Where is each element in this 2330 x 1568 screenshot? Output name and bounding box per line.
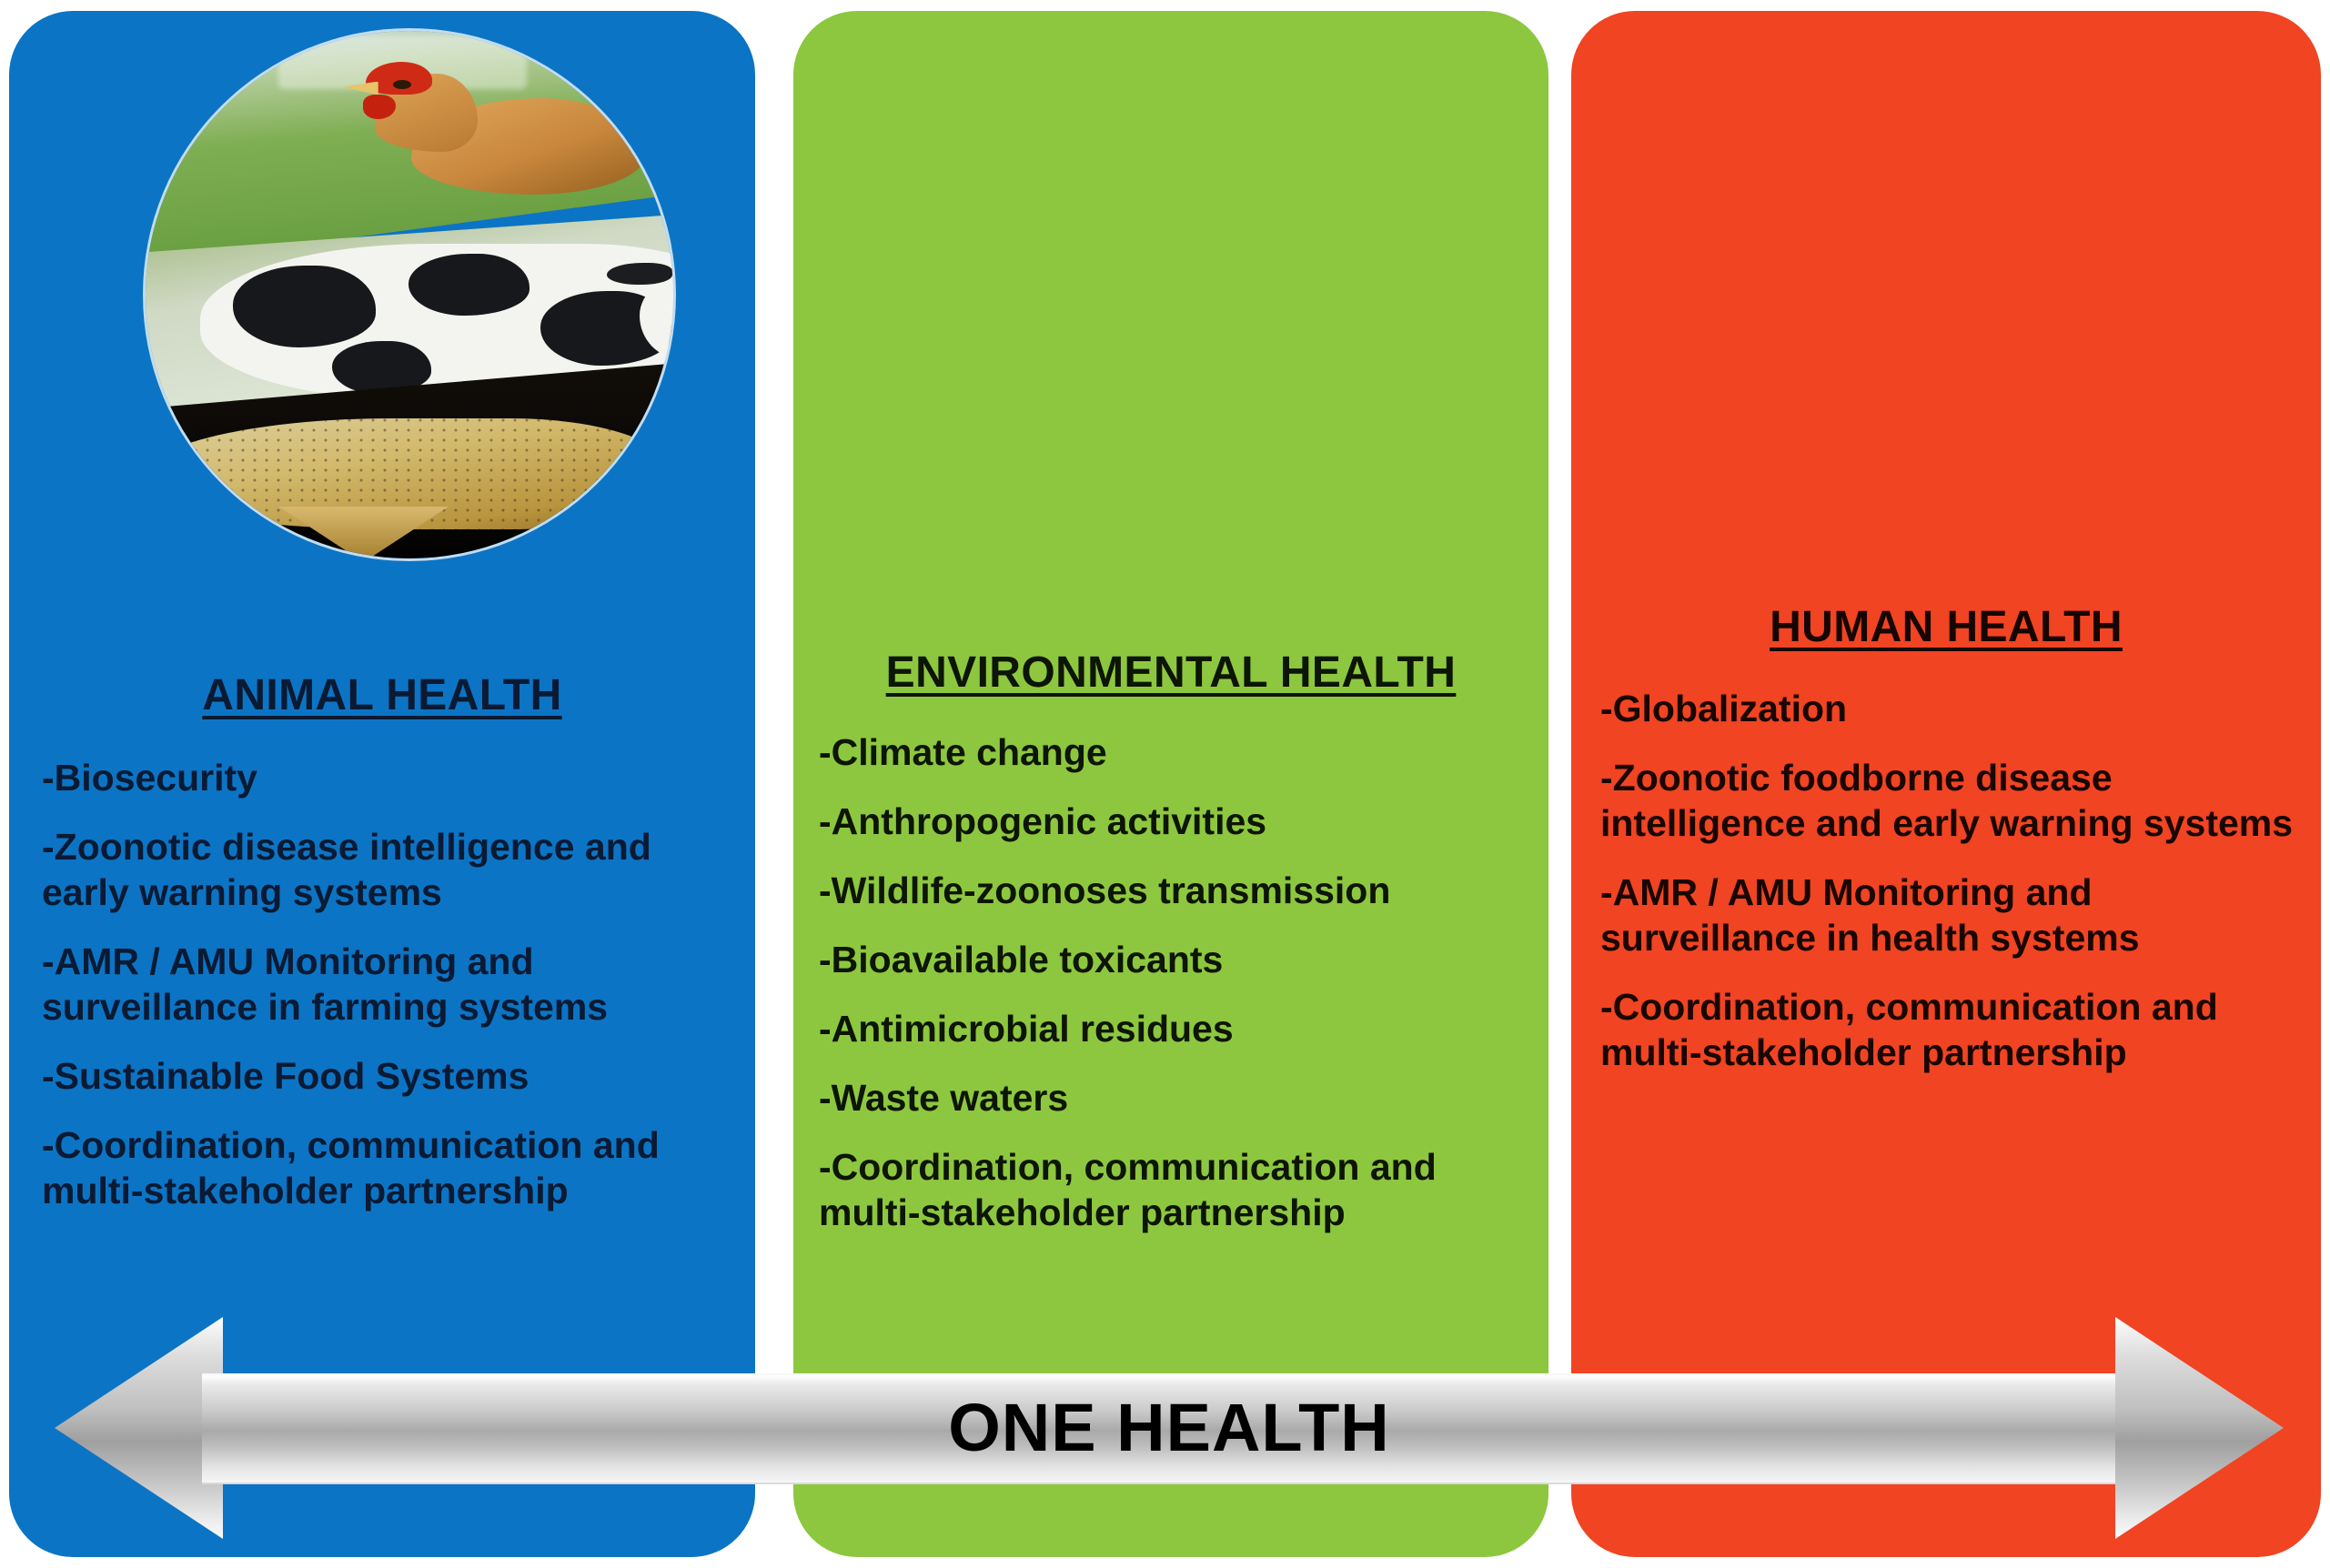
list-item: -AMR / AMU Monitoring and surveillance i… (1600, 869, 2301, 960)
list-item: -Zoonotic foodborne disease intelligence… (1600, 755, 2301, 846)
list-item: -AMR / AMU Monitoring and surveillance i… (42, 939, 742, 1030)
infographic-canvas: ANIMAL HEALTH -Biosecurity -Zoonotic dis… (0, 0, 2330, 1568)
list-item: -Waste waters (819, 1075, 1528, 1121)
list-item: -Antimicrobial residues (819, 1006, 1528, 1051)
list-item: -Coordination, communication and multi-s… (42, 1122, 742, 1213)
list-item: -Zoonotic disease intelligence and early… (42, 824, 742, 915)
list-item: -Sustainable Food Systems (42, 1053, 742, 1099)
fish-fin (278, 507, 449, 558)
one-health-label: ONE HEALTH (55, 1373, 2284, 1481)
animal-health-heading: ANIMAL HEALTH (9, 670, 755, 720)
environmental-health-bullet-list: -Climate change -Anthropogenic activitie… (819, 729, 1528, 1259)
animal-health-bullet-list: -Biosecurity -Zoonotic disease intellige… (42, 755, 742, 1237)
list-item: -Biosecurity (42, 755, 742, 800)
animal-collage-image (146, 31, 673, 558)
list-item: -Globalization (1600, 686, 2301, 731)
human-health-heading: HUMAN HEALTH (1571, 602, 2321, 652)
list-item: -Bioavailable toxicants (819, 937, 1528, 982)
list-item: -Coordination, communication and multi-s… (1600, 984, 2301, 1075)
one-health-arrow-banner: ONE HEALTH (55, 1317, 2284, 1539)
list-item: -Wildlife-zoonoses transmission (819, 868, 1528, 913)
list-item: -Anthropogenic activities (819, 799, 1528, 844)
list-item: -Climate change (819, 729, 1528, 775)
environmental-health-heading: ENVIRONMENTAL HEALTH (793, 648, 1548, 698)
chicken-icon (357, 65, 658, 215)
list-item: -Coordination, communication and multi-s… (819, 1144, 1528, 1235)
human-health-bullet-list: -Globalization -Zoonotic foodborne disea… (1600, 686, 2301, 1099)
